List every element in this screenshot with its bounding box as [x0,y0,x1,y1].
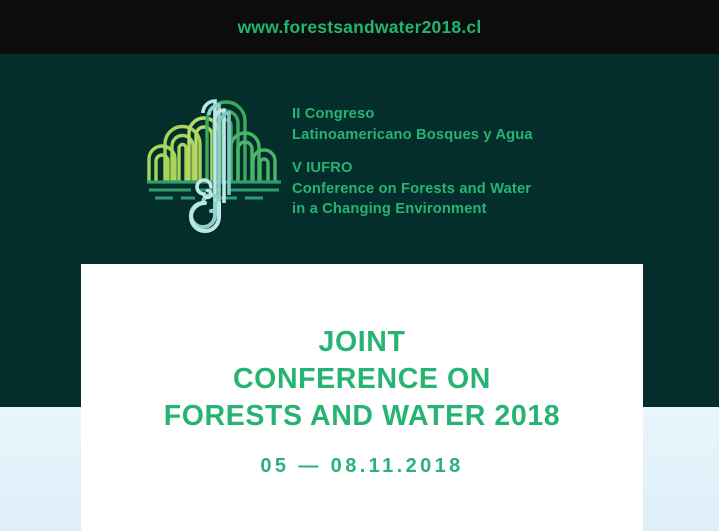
logo-line-congreso: II Congreso [292,104,592,125]
site-url-text[interactable]: www.forestsandwater2018.cl [238,17,482,38]
card-content: JOINT CONFERENCE ON FORESTS AND WATER 20… [81,324,643,478]
top-url-bar: www.forestsandwater2018.cl [0,0,719,54]
conference-title-line-2: CONFERENCE ON [81,361,643,398]
logo-line-conference: Conference on Forests and Water [292,179,592,200]
logo-line-iufro: V IUFRO [292,158,592,179]
conference-title-line-1: JOINT [81,324,643,361]
logo-text-spacer [292,145,592,158]
forests-and-water-logo-mark [145,95,285,235]
page-root: www.forestsandwater2018.cl [0,0,719,531]
logo-text-block: II Congreso Latinoamericano Bosques y Ag… [292,104,592,220]
conference-dates: 05 — 08.11.2018 [81,455,643,478]
logo-line-environment: in a Changing Environment [292,199,592,220]
logo-line-latinoamericano: Latinoamericano Bosques y Agua [292,125,592,146]
conference-title-line-3: FORESTS AND WATER 2018 [81,398,643,435]
main-white-card: JOINT CONFERENCE ON FORESTS AND WATER 20… [81,264,643,531]
conference-logo-block: II Congreso Latinoamericano Bosques y Ag… [145,95,585,237]
